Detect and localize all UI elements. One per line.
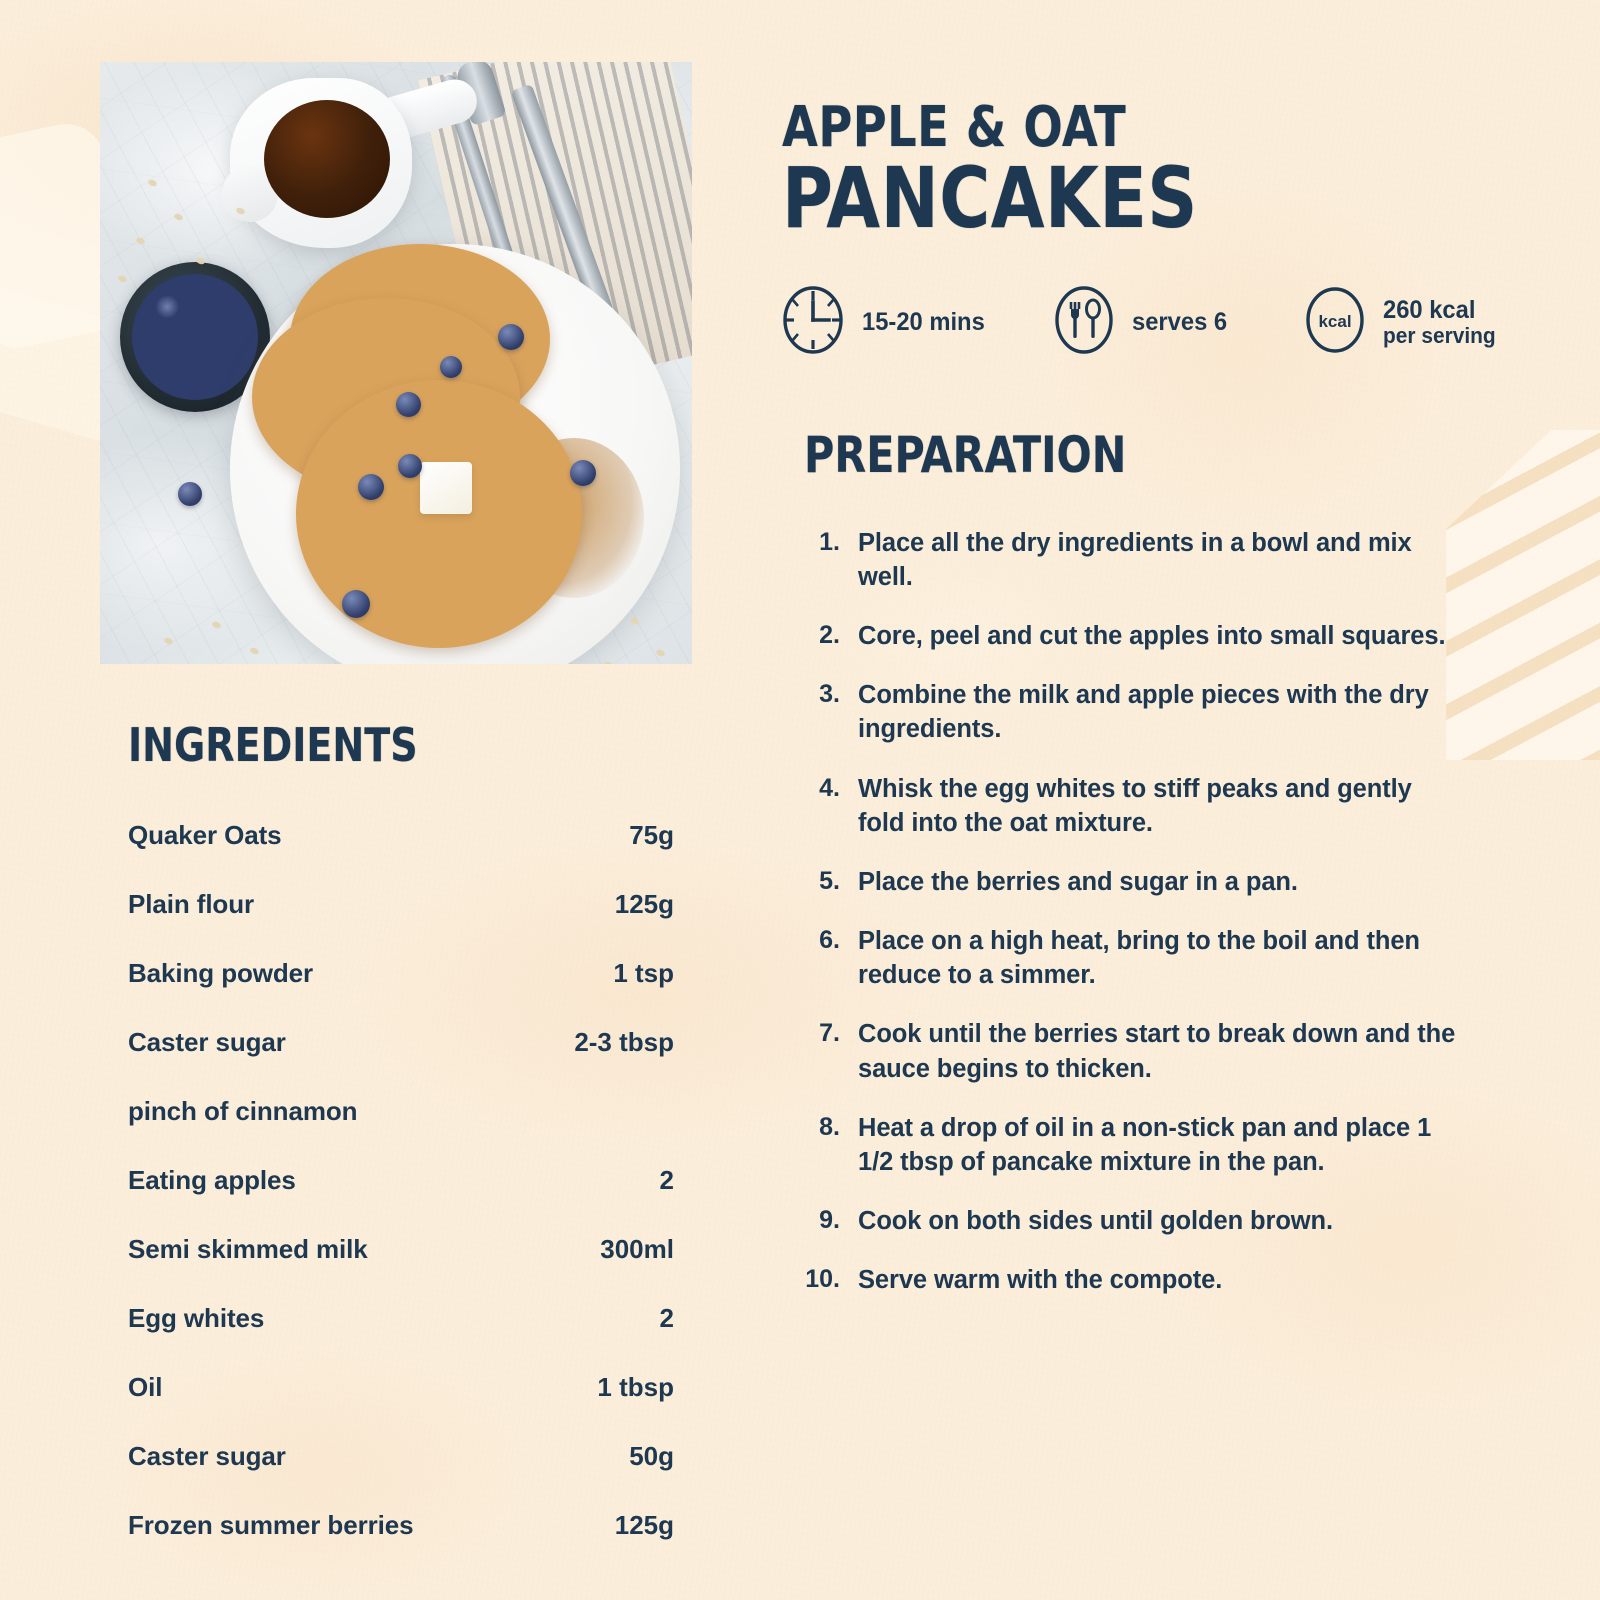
preparation-step-number: 1. (788, 526, 840, 594)
preparation-step-text: Place all the dry ingredients in a bowl … (858, 526, 1458, 594)
photo-butter-pat (420, 462, 472, 514)
photo-berry (396, 392, 421, 417)
ingredient-quantity: 300ml (600, 1234, 674, 1265)
right-column: APPLE & OAT PANCAKES (782, 0, 1502, 1322)
photo-berry (498, 324, 524, 350)
ingredient-quantity: 2 (660, 1303, 674, 1334)
photo-berry (440, 356, 462, 378)
preparation-step: 3.Combine the milk and apple pieces with… (788, 678, 1502, 746)
preparation-step-text: Combine the milk and apple pieces with t… (858, 678, 1458, 746)
clock-icon (782, 285, 844, 360)
preparation-steps: 1.Place all the dry ingredients in a bow… (788, 526, 1502, 1298)
preparation-step: 6.Place on a high heat, bring to the boi… (788, 924, 1502, 992)
title-line-2: PANCAKES (782, 160, 1444, 237)
ingredient-row: Caster sugar2-3 tbsp (128, 1027, 674, 1058)
ingredient-name: Caster sugar (128, 1441, 286, 1472)
ingredient-row: Quaker Oats75g (128, 820, 674, 851)
ingredient-name: Plain flour (128, 889, 254, 920)
recipe-photo (100, 62, 692, 664)
preparation-step: 1.Place all the dry ingredients in a bow… (788, 526, 1502, 594)
ingredient-row: Plain flour125g (128, 889, 674, 920)
ingredient-row: Oil1 tbsp (128, 1372, 674, 1403)
ingredient-name: Baking powder (128, 958, 313, 989)
preparation-step-text: Cook on both sides until golden brown. (858, 1204, 1333, 1238)
ingredient-row: Caster sugar50g (128, 1441, 674, 1472)
ingredient-quantity: 2-3 tbsp (574, 1027, 674, 1058)
svg-text:kcal: kcal (1319, 312, 1352, 331)
meta-cook-time-label: 15-20 mins (862, 308, 985, 337)
photo-berry (570, 460, 596, 486)
ingredient-name: Frozen summer berries (128, 1510, 413, 1541)
ingredient-row: Baking powder1 tsp (128, 958, 674, 989)
preparation-step-number: 4. (788, 772, 840, 840)
preparation-step-text: Whisk the egg whites to stiff peaks and … (858, 772, 1458, 840)
ingredient-name: Oil (128, 1372, 162, 1403)
ingredient-name: Eating apples (128, 1165, 296, 1196)
ingredient-quantity: 1 tbsp (597, 1372, 674, 1403)
preparation-heading: PREPARATION (804, 426, 1446, 484)
title-line-1: APPLE & OAT (782, 102, 1444, 154)
page-title: APPLE & OAT PANCAKES (782, 102, 1502, 237)
ingredients-section: INGREDIENTS Quaker Oats75gPlain flour125… (128, 718, 674, 1579)
photo-pancake-front (296, 380, 582, 648)
preparation-step: 8.Heat a drop of oil in a non-stick pan … (788, 1111, 1502, 1179)
ingredient-name: Egg whites (128, 1303, 264, 1334)
preparation-step-text: Heat a drop of oil in a non-stick pan an… (858, 1111, 1458, 1179)
ingredient-quantity: 1 tsp (613, 958, 674, 989)
preparation-step: 10.Serve warm with the compote. (788, 1263, 1502, 1297)
ingredient-row: Eating apples2 (128, 1165, 674, 1196)
preparation-step-number: 9. (788, 1204, 840, 1238)
ingredient-name: pinch of cinnamon (128, 1096, 357, 1127)
ingredient-row: pinch of cinnamon (128, 1096, 674, 1127)
meta-calories-value: 260 kcal (1383, 296, 1475, 324)
ingredient-name: Quaker Oats (128, 820, 282, 851)
kcal-icon: kcal (1305, 285, 1365, 360)
ingredient-quantity: 125g (615, 1510, 674, 1541)
preparation-step-text: Place on a high heat, bring to the boil … (858, 924, 1458, 992)
meta-cook-time: 15-20 mins (782, 285, 1054, 360)
ingredient-quantity: 125g (615, 889, 674, 920)
ingredient-quantity: 75g (629, 820, 674, 851)
ingredient-name: Semi skimmed milk (128, 1234, 368, 1265)
ingredient-row: Semi skimmed milk300ml (128, 1234, 674, 1265)
meta-calories-sublabel: per serving (1383, 324, 1496, 348)
photo-berry (358, 474, 384, 500)
ingredients-heading: INGREDIENTS (128, 718, 630, 772)
photo-berry (398, 454, 422, 478)
recipe-card: INGREDIENTS Quaker Oats75gPlain flour125… (0, 0, 1600, 1600)
preparation-step-number: 7. (788, 1017, 840, 1085)
ingredient-quantity: 2 (660, 1165, 674, 1196)
ingredient-quantity: 50g (629, 1441, 674, 1472)
preparation-step-number: 10. (788, 1263, 840, 1297)
preparation-step: 9.Cook on both sides until golden brown. (788, 1204, 1502, 1238)
preparation-step-number: 8. (788, 1111, 840, 1179)
ingredients-list: Quaker Oats75gPlain flour125gBaking powd… (128, 820, 674, 1541)
meta-calories-label: 260 kcal per serving (1383, 297, 1496, 348)
preparation-step: 7.Cook until the berries start to break … (788, 1017, 1502, 1085)
cutlery-icon (1054, 285, 1114, 360)
photo-syrup-liquid (264, 100, 390, 218)
preparation-step: 4.Whisk the egg whites to stiff peaks an… (788, 772, 1502, 840)
preparation-step-number: 2. (788, 619, 840, 653)
preparation-step: 2.Core, peel and cut the apples into sma… (788, 619, 1502, 653)
preparation-step-text: Core, peel and cut the apples into small… (858, 619, 1445, 653)
preparation-step-number: 3. (788, 678, 840, 746)
preparation-step-text: Serve warm with the compote. (858, 1263, 1222, 1297)
preparation-step: 5.Place the berries and sugar in a pan. (788, 865, 1502, 899)
meta-calories: kcal 260 kcal per serving (1305, 285, 1502, 360)
photo-berry (178, 482, 202, 506)
ingredient-row: Egg whites2 (128, 1303, 674, 1334)
preparation-step-text: Cook until the berries start to break do… (858, 1017, 1458, 1085)
photo-blueberries-in-bowl (132, 274, 258, 400)
preparation-step-number: 5. (788, 865, 840, 899)
preparation-step-number: 6. (788, 924, 840, 992)
recipe-meta-row: 15-20 mins (782, 285, 1502, 360)
ingredient-name: Caster sugar (128, 1027, 286, 1058)
preparation-step-text: Place the berries and sugar in a pan. (858, 865, 1298, 899)
ingredient-row: Frozen summer berries125g (128, 1510, 674, 1541)
meta-servings: serves 6 (1054, 285, 1306, 360)
meta-servings-label: serves 6 (1132, 308, 1227, 337)
photo-berry (342, 590, 370, 618)
